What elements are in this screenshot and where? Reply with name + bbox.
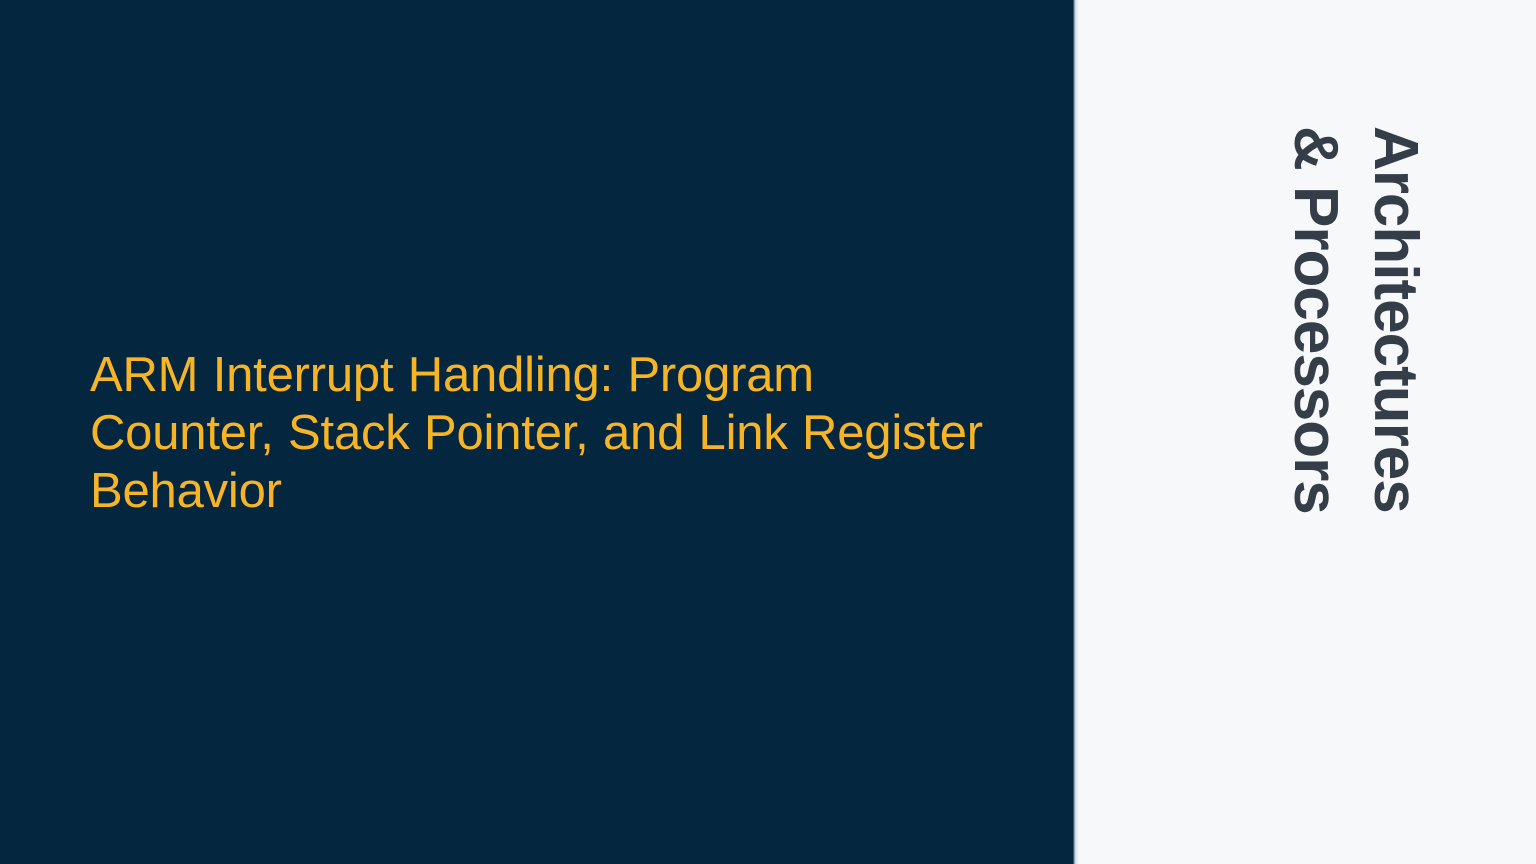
panel-divider	[1073, 0, 1078, 864]
title-block: ARM Interrupt Handling: Program Counter,…	[90, 346, 1010, 520]
page-title: ARM Interrupt Handling: Program Counter,…	[90, 346, 1010, 520]
slide-canvas: ARM Interrupt Handling: Program Counter,…	[0, 0, 1536, 864]
vertical-label-line-processors: & Processors	[1284, 126, 1346, 514]
vertical-label-line-architectures: Architectures	[1364, 126, 1426, 513]
category-panel: Architectures & Processors	[1074, 0, 1536, 864]
vertical-category-label: Architectures & Processors	[1074, 0, 1536, 864]
title-panel: ARM Interrupt Handling: Program Counter,…	[0, 0, 1074, 864]
